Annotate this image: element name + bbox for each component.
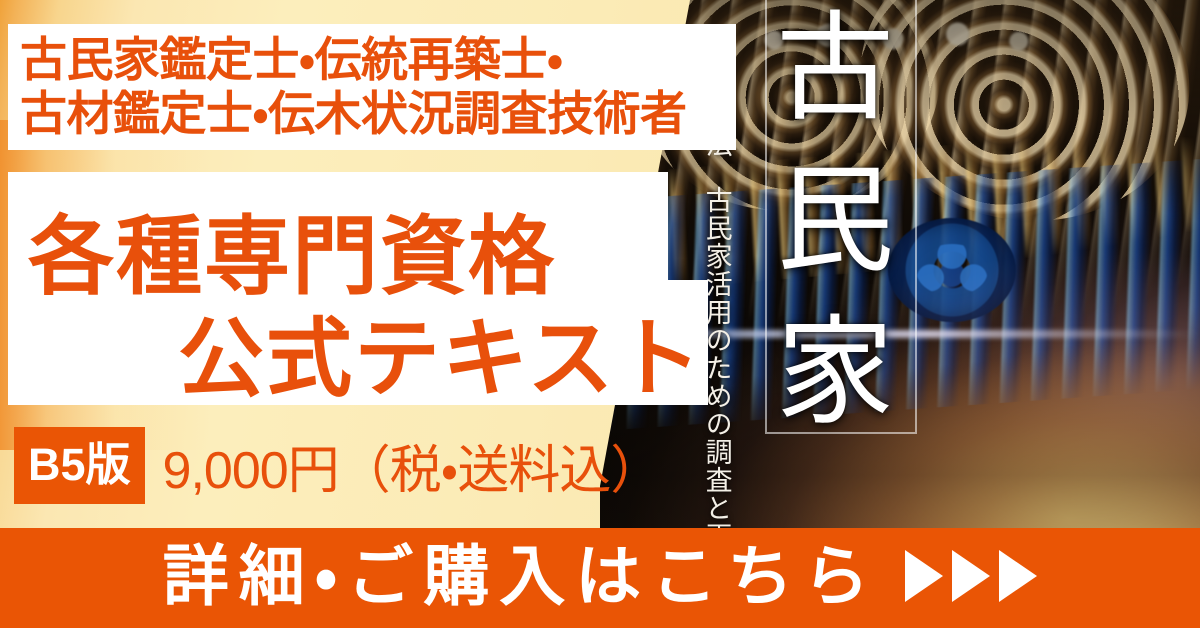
cta-arrow-group[interactable] bbox=[905, 550, 1037, 606]
format-badge-b5: B5版 bbox=[14, 427, 145, 504]
book-title-vertical: 古 民 家 bbox=[760, 12, 910, 432]
cta-bar[interactable]: 詳細・ご購入はこちら bbox=[0, 528, 1200, 628]
cta-label[interactable]: 詳細・ご購入はこちら bbox=[163, 543, 879, 613]
promo-banner: 古 民 家 伝統構法 古民家活用のための調査と再生の 古民家鑑定士・伝統再築士・… bbox=[0, 0, 1200, 628]
triangle-right-icon bbox=[952, 550, 990, 602]
triangle-right-icon bbox=[905, 550, 943, 602]
headline-line-2: 公式テキスト bbox=[178, 288, 703, 413]
book-title-char-3: 家 bbox=[776, 316, 894, 432]
certification-line-1: 古民家鑑定士・伝統再築士・ bbox=[20, 33, 736, 87]
book-title-char-2: 民 bbox=[776, 164, 894, 280]
price-row: B5版 9,000円（税・送料込） bbox=[14, 427, 661, 504]
certification-line-2: 古材鑑定士・伝木状況調査技術者 bbox=[20, 87, 736, 141]
book-title-char-1: 古 bbox=[776, 12, 894, 128]
price-amount: 9,000円（税・送料込） bbox=[163, 428, 662, 503]
certification-panel: 古民家鑑定士・伝統再築士・ 古材鑑定士・伝木状況調査技術者 bbox=[8, 24, 736, 150]
triangle-right-icon bbox=[999, 550, 1037, 602]
